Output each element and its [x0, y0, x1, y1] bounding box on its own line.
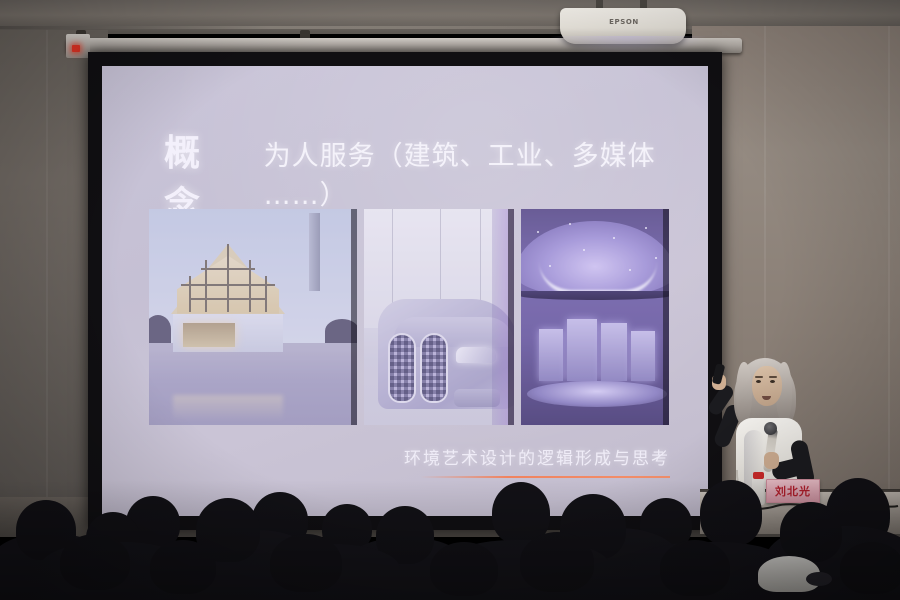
audience-head [700, 480, 762, 546]
slide-footer-text: 环境艺术设计的逻辑形成与思考 [404, 444, 670, 469]
roller-power-led-icon [72, 45, 80, 52]
projector-brand-label: EPSON [596, 18, 652, 26]
audience-head [660, 540, 730, 596]
microphone-head-icon [764, 422, 777, 435]
architecture-illustration [149, 209, 357, 425]
speaker-brow [769, 376, 777, 378]
concept-car-illustration [364, 209, 514, 425]
photo-edge [663, 209, 669, 425]
water-bottle-cap [753, 472, 764, 479]
audience-head [780, 502, 842, 562]
cap-brim [806, 572, 832, 586]
slide-image-strip [149, 209, 669, 425]
slide-footer-rule [420, 476, 670, 478]
multimedia-stage-illustration [521, 209, 669, 425]
speaker-face [752, 366, 782, 406]
projection-haze [364, 209, 514, 425]
projection-screen: 概念 为人服务（建筑、工业、多媒体 ……） [88, 52, 722, 530]
slide-image-multimedia [521, 209, 669, 425]
speaker-hand-right [764, 452, 779, 469]
projection-haze [149, 209, 357, 425]
audience-head [60, 534, 130, 590]
slide-title-sub: 为人服务（建筑、工业、多媒体 ……） [264, 134, 708, 212]
speaker-hair-left [736, 362, 752, 424]
speaker-eye [770, 380, 775, 383]
presentation-slide: 概念 为人服务（建筑、工业、多媒体 ……） [102, 66, 708, 516]
wall-seam [888, 26, 890, 531]
speaker-eye [756, 380, 761, 383]
audience-head [520, 532, 594, 592]
slide-image-industrial-design [364, 209, 514, 425]
audience [0, 480, 900, 600]
photo-edge [508, 209, 514, 425]
audience-head [270, 534, 342, 592]
photo-edge [351, 209, 357, 425]
slide-image-architecture [149, 209, 357, 425]
slide-footer: 环境艺术设计的逻辑形成与思考 [404, 444, 670, 478]
lecture-hall-scene: EPSON 概念 为人服务（建筑、工业、多媒体 ……） [0, 0, 900, 600]
speaker-brow [755, 376, 763, 378]
audience-head [840, 542, 900, 594]
projection-haze [521, 209, 669, 425]
audience-head [430, 542, 498, 596]
audience-head [150, 540, 216, 594]
